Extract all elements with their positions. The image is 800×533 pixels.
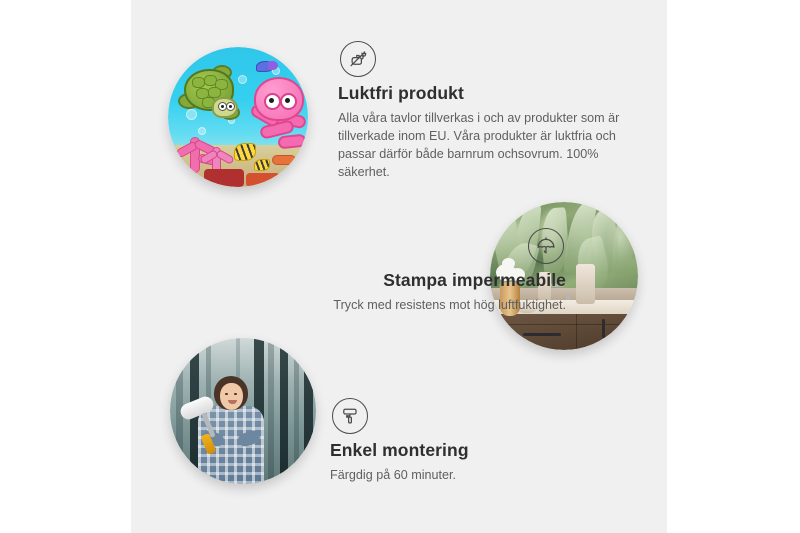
feature-waterproof: Stampa impermeabile Tryck med resistens … xyxy=(221,228,566,314)
paint-roller-icon xyxy=(332,398,368,434)
umbrella-icon xyxy=(528,228,564,264)
feature-description: Färgdig på 60 minuter. xyxy=(330,466,630,484)
feature-easy-install: Enkel montering Färgdig på 60 minuter. xyxy=(330,398,630,484)
woman-with-paint-roller-forest-photo xyxy=(170,338,316,484)
feature-title: Enkel montering xyxy=(330,440,630,461)
no-odour-spray-icon xyxy=(340,41,376,77)
promo-infographic: Luktfri produkt Alla våra tavlor tillver… xyxy=(0,0,800,533)
feature-description: Alla våra tavlor tillverkas i och av pro… xyxy=(338,109,628,181)
content-panel: Luktfri produkt Alla våra tavlor tillver… xyxy=(131,0,667,533)
feature-odorless: Luktfri produkt Alla våra tavlor tillver… xyxy=(338,41,628,181)
feature-title: Stampa impermeabile xyxy=(221,270,566,291)
underwater-kids-mural-photo xyxy=(168,47,308,187)
feature-description: Tryck med resistens mot hög luftfuktighe… xyxy=(221,296,566,314)
feature-title: Luktfri produkt xyxy=(338,83,628,104)
